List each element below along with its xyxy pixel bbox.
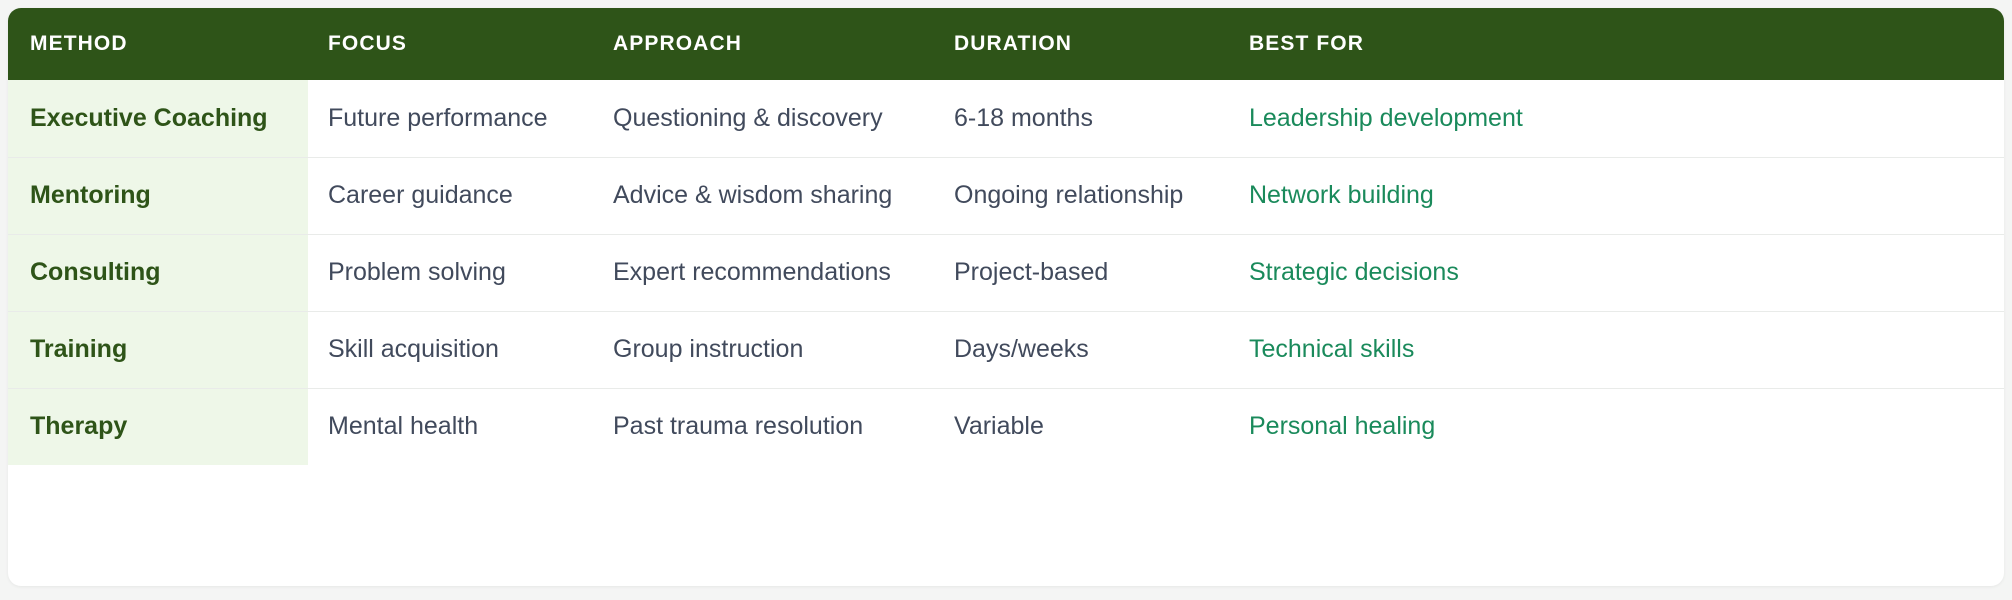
table-row: Mentoring Career guidance Advice & wisdo… bbox=[8, 157, 2004, 234]
column-header-focus: FOCUS bbox=[308, 8, 592, 80]
cell-focus: Career guidance bbox=[308, 157, 592, 234]
column-header-best-for: BEST FOR bbox=[1228, 8, 2004, 80]
cell-best-for: Personal healing bbox=[1228, 388, 2004, 465]
cell-focus: Mental health bbox=[308, 388, 592, 465]
cell-focus: Future performance bbox=[308, 80, 592, 157]
cell-method: Training bbox=[8, 311, 308, 388]
cell-duration: Ongoing relationship bbox=[935, 157, 1228, 234]
cell-best-for: Technical skills bbox=[1228, 311, 2004, 388]
column-header-duration: DURATION bbox=[935, 8, 1228, 80]
cell-method: Therapy bbox=[8, 388, 308, 465]
comparison-table-card: METHOD FOCUS APPROACH DURATION BEST FOR … bbox=[8, 8, 2004, 586]
cell-best-for: Network building bbox=[1228, 157, 2004, 234]
cell-best-for: Leadership development bbox=[1228, 80, 2004, 157]
cell-focus: Skill acquisition bbox=[308, 311, 592, 388]
cell-best-for: Strategic decisions bbox=[1228, 234, 2004, 311]
cell-approach: Expert recommendations bbox=[592, 234, 935, 311]
cell-approach: Advice & wisdom sharing bbox=[592, 157, 935, 234]
cell-duration: 6-18 months bbox=[935, 80, 1228, 157]
cell-approach: Group instruction bbox=[592, 311, 935, 388]
cell-method: Consulting bbox=[8, 234, 308, 311]
cell-approach: Past trauma resolution bbox=[592, 388, 935, 465]
column-header-method: METHOD bbox=[8, 8, 308, 80]
table-row: Therapy Mental health Past trauma resolu… bbox=[8, 388, 2004, 465]
table-row: Consulting Problem solving Expert recomm… bbox=[8, 234, 2004, 311]
cell-duration: Project-based bbox=[935, 234, 1228, 311]
cell-method: Executive Coaching bbox=[8, 80, 308, 157]
table-row: Training Skill acquisition Group instruc… bbox=[8, 311, 2004, 388]
cell-duration: Variable bbox=[935, 388, 1228, 465]
column-header-approach: APPROACH bbox=[592, 8, 935, 80]
coaching-methods-comparison-table: METHOD FOCUS APPROACH DURATION BEST FOR … bbox=[8, 8, 2004, 465]
cell-method: Mentoring bbox=[8, 157, 308, 234]
table-row: Executive Coaching Future performance Qu… bbox=[8, 80, 2004, 157]
table-header-row: METHOD FOCUS APPROACH DURATION BEST FOR bbox=[8, 8, 2004, 80]
cell-approach: Questioning & discovery bbox=[592, 80, 935, 157]
cell-duration: Days/weeks bbox=[935, 311, 1228, 388]
table-body: Executive Coaching Future performance Qu… bbox=[8, 80, 2004, 465]
table-header: METHOD FOCUS APPROACH DURATION BEST FOR bbox=[8, 8, 2004, 80]
cell-focus: Problem solving bbox=[308, 234, 592, 311]
